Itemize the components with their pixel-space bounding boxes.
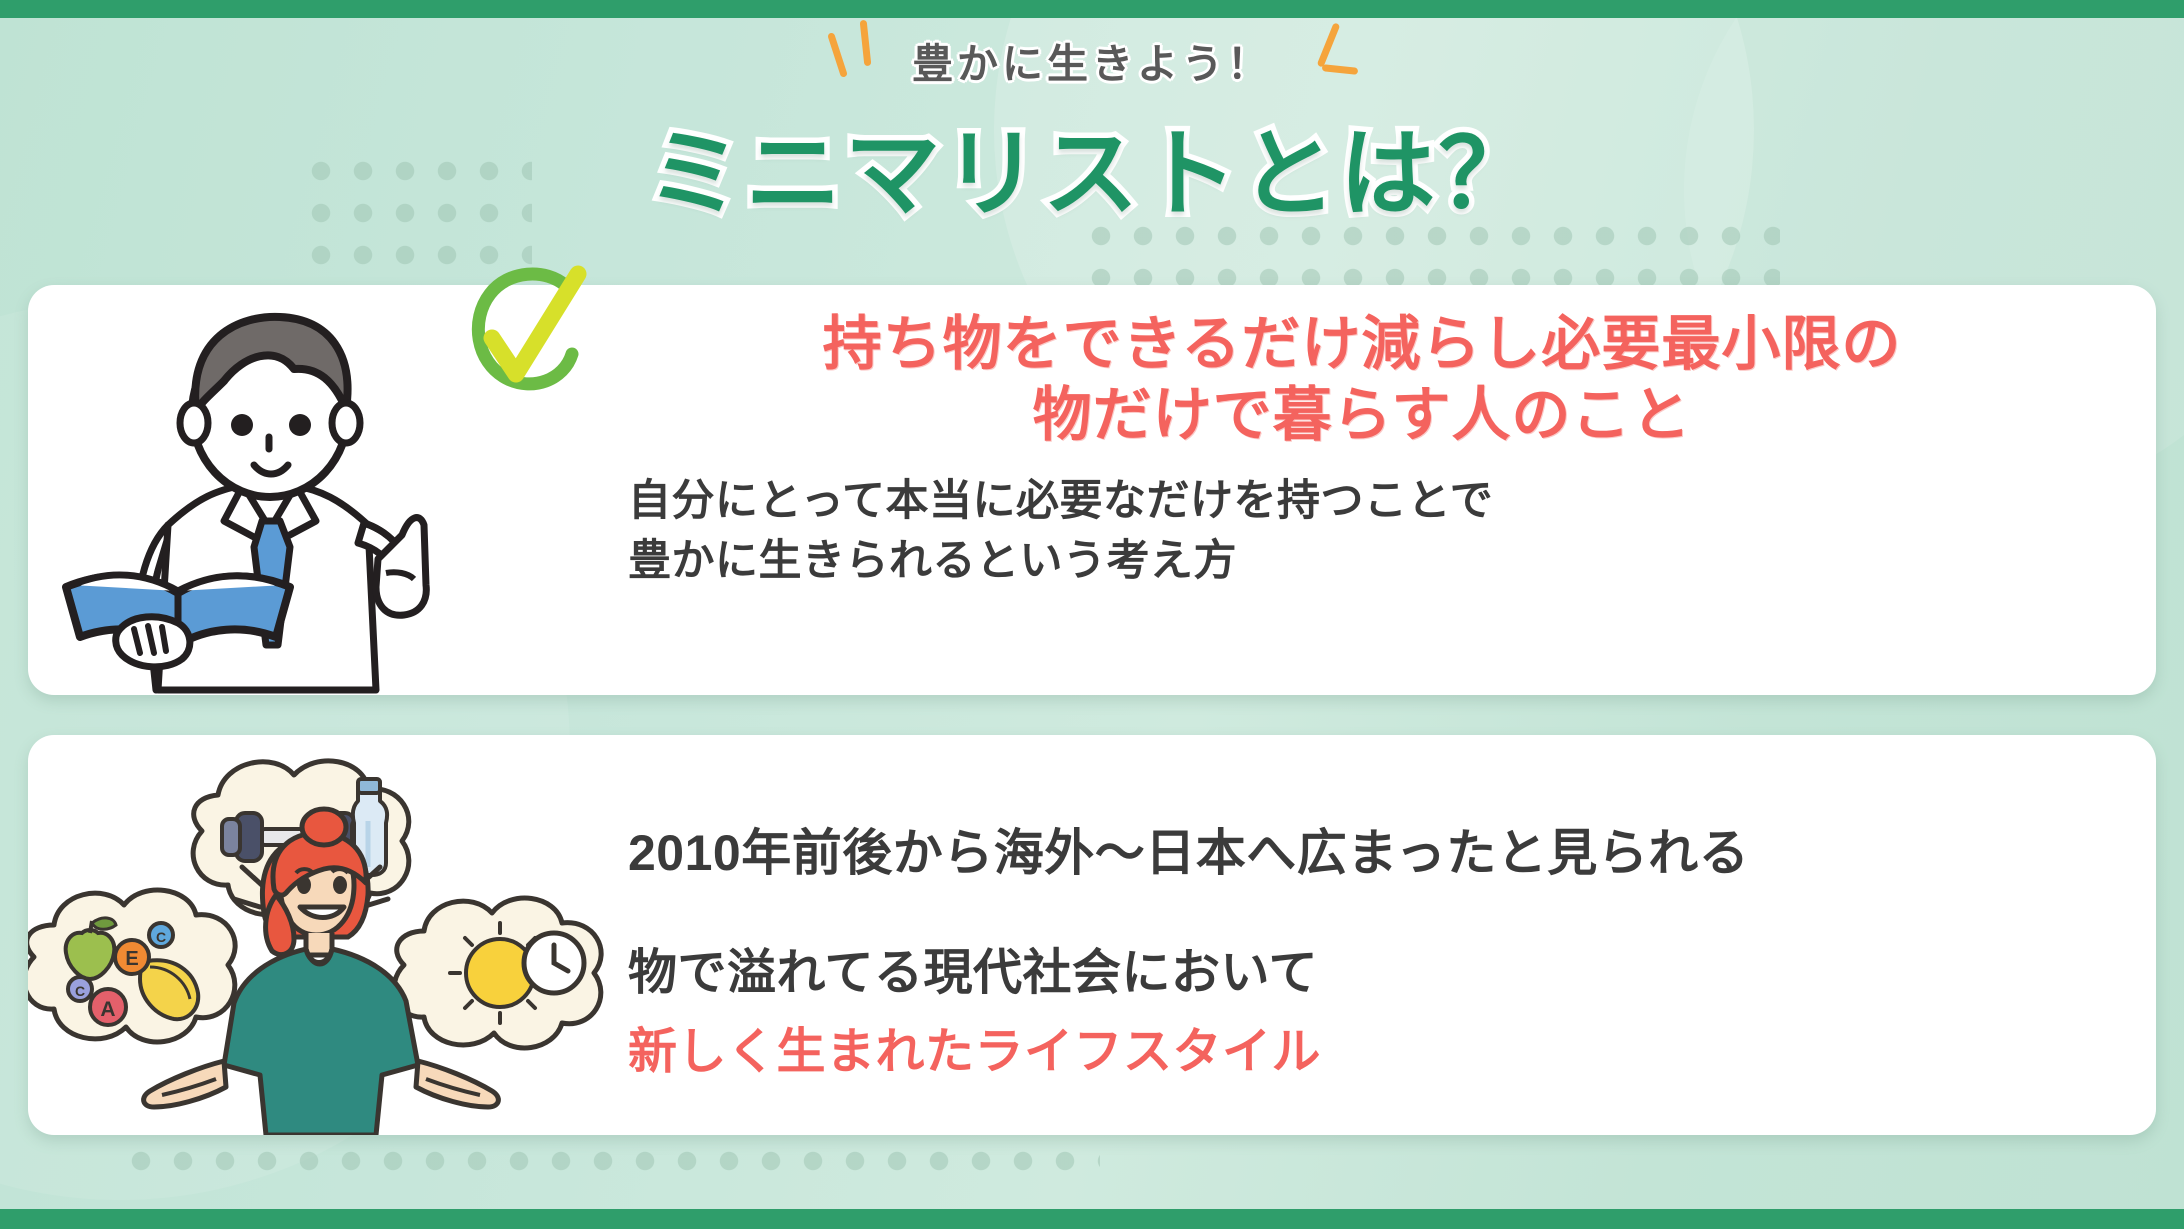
card-origin: E C C A — [28, 735, 2156, 1135]
header: 豊かに生きよう！ ミニマリストとは？ — [0, 0, 2184, 235]
page-title: ミニマリストとは？ — [0, 96, 2184, 235]
thought-bubble-time — [394, 898, 601, 1048]
card-definition-text: 持ち物をできるだけ減らし必要最小限の 物だけで暮らす人のこと 自分にとって本当に… — [628, 285, 2156, 695]
card-definition: 持ち物をできるだけ減らし必要最小限の 物だけで暮らす人のこと 自分にとって本当に… — [28, 285, 2156, 695]
eyebrow-label: 豊かに生きよう！ — [912, 41, 1272, 87]
sparkle-right-2-icon — [1322, 64, 1359, 75]
origin-line-1: 2010年前後から海外〜日本へ広まったと見られる — [628, 735, 2096, 885]
definition-headline-line-2: 物だけで暮らす人のこと — [628, 380, 2096, 451]
green-check-circle-icon — [462, 262, 590, 394]
bottom-green-bar — [0, 1209, 2184, 1229]
slide-root: 豊かに生きよう！ ミニマリストとは？ — [0, 0, 2184, 1229]
eyebrow-text-wrapper: 豊かに生きよう！ — [912, 30, 1272, 90]
sparkle-left-2-icon — [860, 20, 872, 66]
definition-body-line-1: 自分にとって本当に必要なだけを持つことで — [628, 471, 2096, 531]
svg-text:C: C — [75, 983, 85, 999]
top-green-bar — [0, 0, 2184, 18]
definition-body: 自分にとって本当に必要なだけを持つことで 豊かに生きられるという考え方 — [628, 471, 2096, 591]
dot-pattern-bottom — [120, 1140, 1100, 1188]
thought-bubble-nutrition: E C C A — [28, 890, 235, 1042]
definition-headline: 持ち物をできるだけ減らし必要最小限の 物だけで暮らす人のこと — [628, 285, 2096, 451]
card-origin-text: 2010年前後から海外〜日本へ広まったと見られる 物で溢れてる現代社会において … — [628, 735, 2156, 1135]
svg-text:A: A — [100, 998, 115, 1021]
woman-with-thought-bubbles-illustration: E C C A — [28, 735, 628, 1135]
origin-line-3: 新しく生まれたライフスタイル — [628, 1012, 2096, 1083]
definition-headline-line-1: 持ち物をできるだけ減らし必要最小限の — [628, 309, 2096, 380]
sparkle-left-1-icon — [827, 32, 848, 78]
definition-body-line-2: 豊かに生きられるという考え方 — [628, 531, 2096, 591]
svg-text:C: C — [156, 929, 166, 945]
sparkle-right-1-icon — [1317, 22, 1341, 67]
holding-hand — [116, 617, 190, 667]
origin-line-2: 物で溢れてる現代社会において — [628, 933, 2096, 1004]
svg-text:E: E — [125, 948, 138, 970]
